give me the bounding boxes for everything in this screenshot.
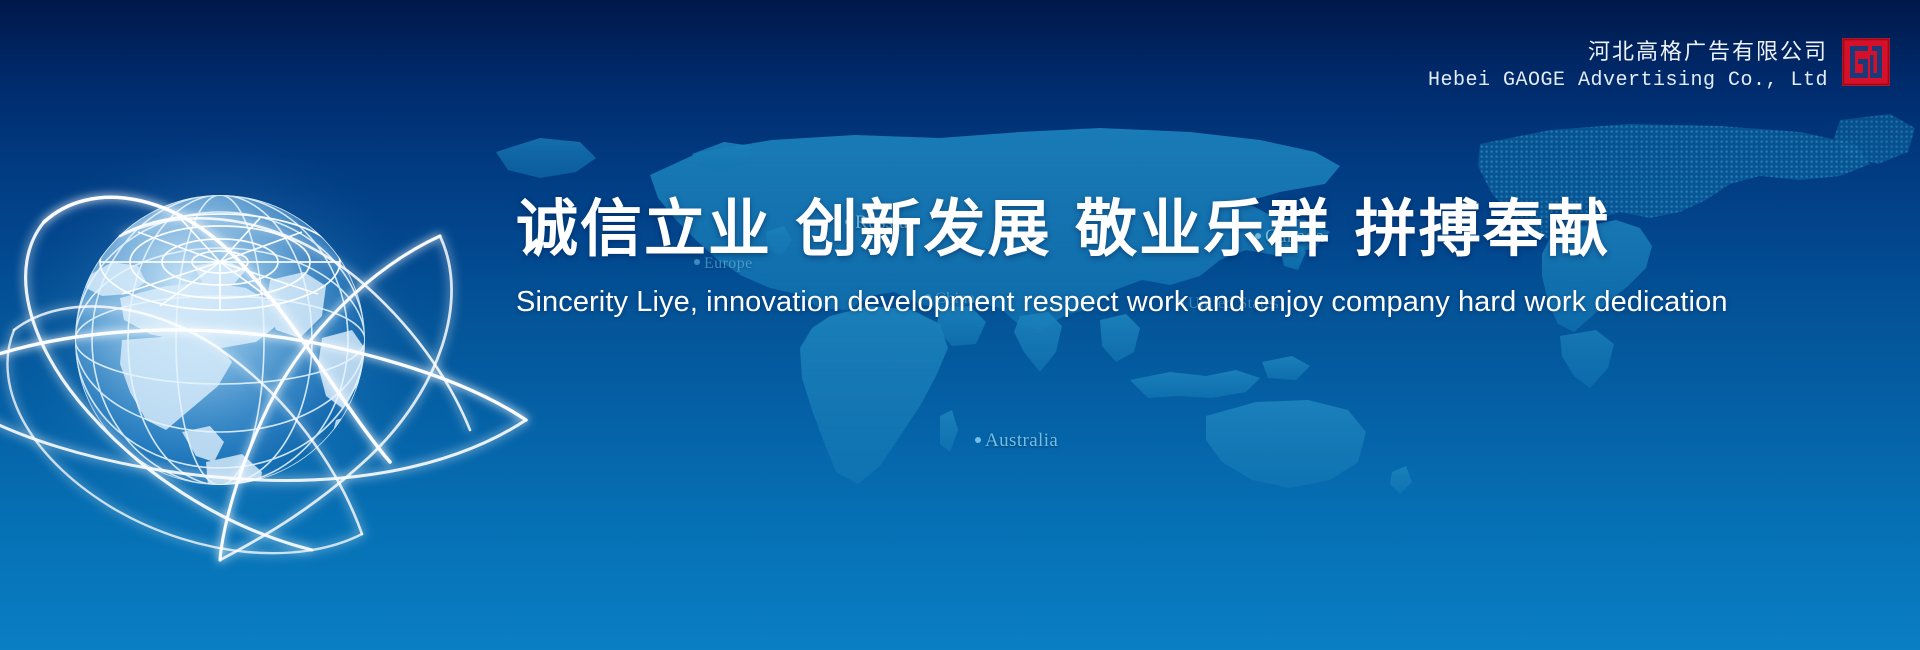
company-name-chinese: 河北高格广告有限公司 xyxy=(1428,38,1828,66)
company-identity: 河北高格广告有限公司 Hebei GAOGE Advertising Co., … xyxy=(1428,36,1890,94)
company-name-english: Hebei GAOGE Advertising Co., Ltd xyxy=(1428,68,1828,94)
globe-orbit-graphic xyxy=(0,90,440,560)
slogan-chinese: 诚信立业 创新发展 敬业乐群 拼搏奉献 xyxy=(516,196,1876,263)
company-banner: Russia Canada Australia Europe China Uni… xyxy=(0,0,1920,650)
map-label-australia: Australia xyxy=(975,430,1058,452)
company-name-block: 河北高格广告有限公司 Hebei GAOGE Advertising Co., … xyxy=(1428,36,1828,94)
map-dot-icon xyxy=(975,437,981,443)
slogan-english: Sincerity Liye, innovation development r… xyxy=(516,285,1876,320)
gaoge-logo-icon xyxy=(1842,38,1890,86)
slogan-block: 诚信立业 创新发展 敬业乐群 拼搏奉献 Sincerity Liye, inno… xyxy=(516,196,1876,320)
